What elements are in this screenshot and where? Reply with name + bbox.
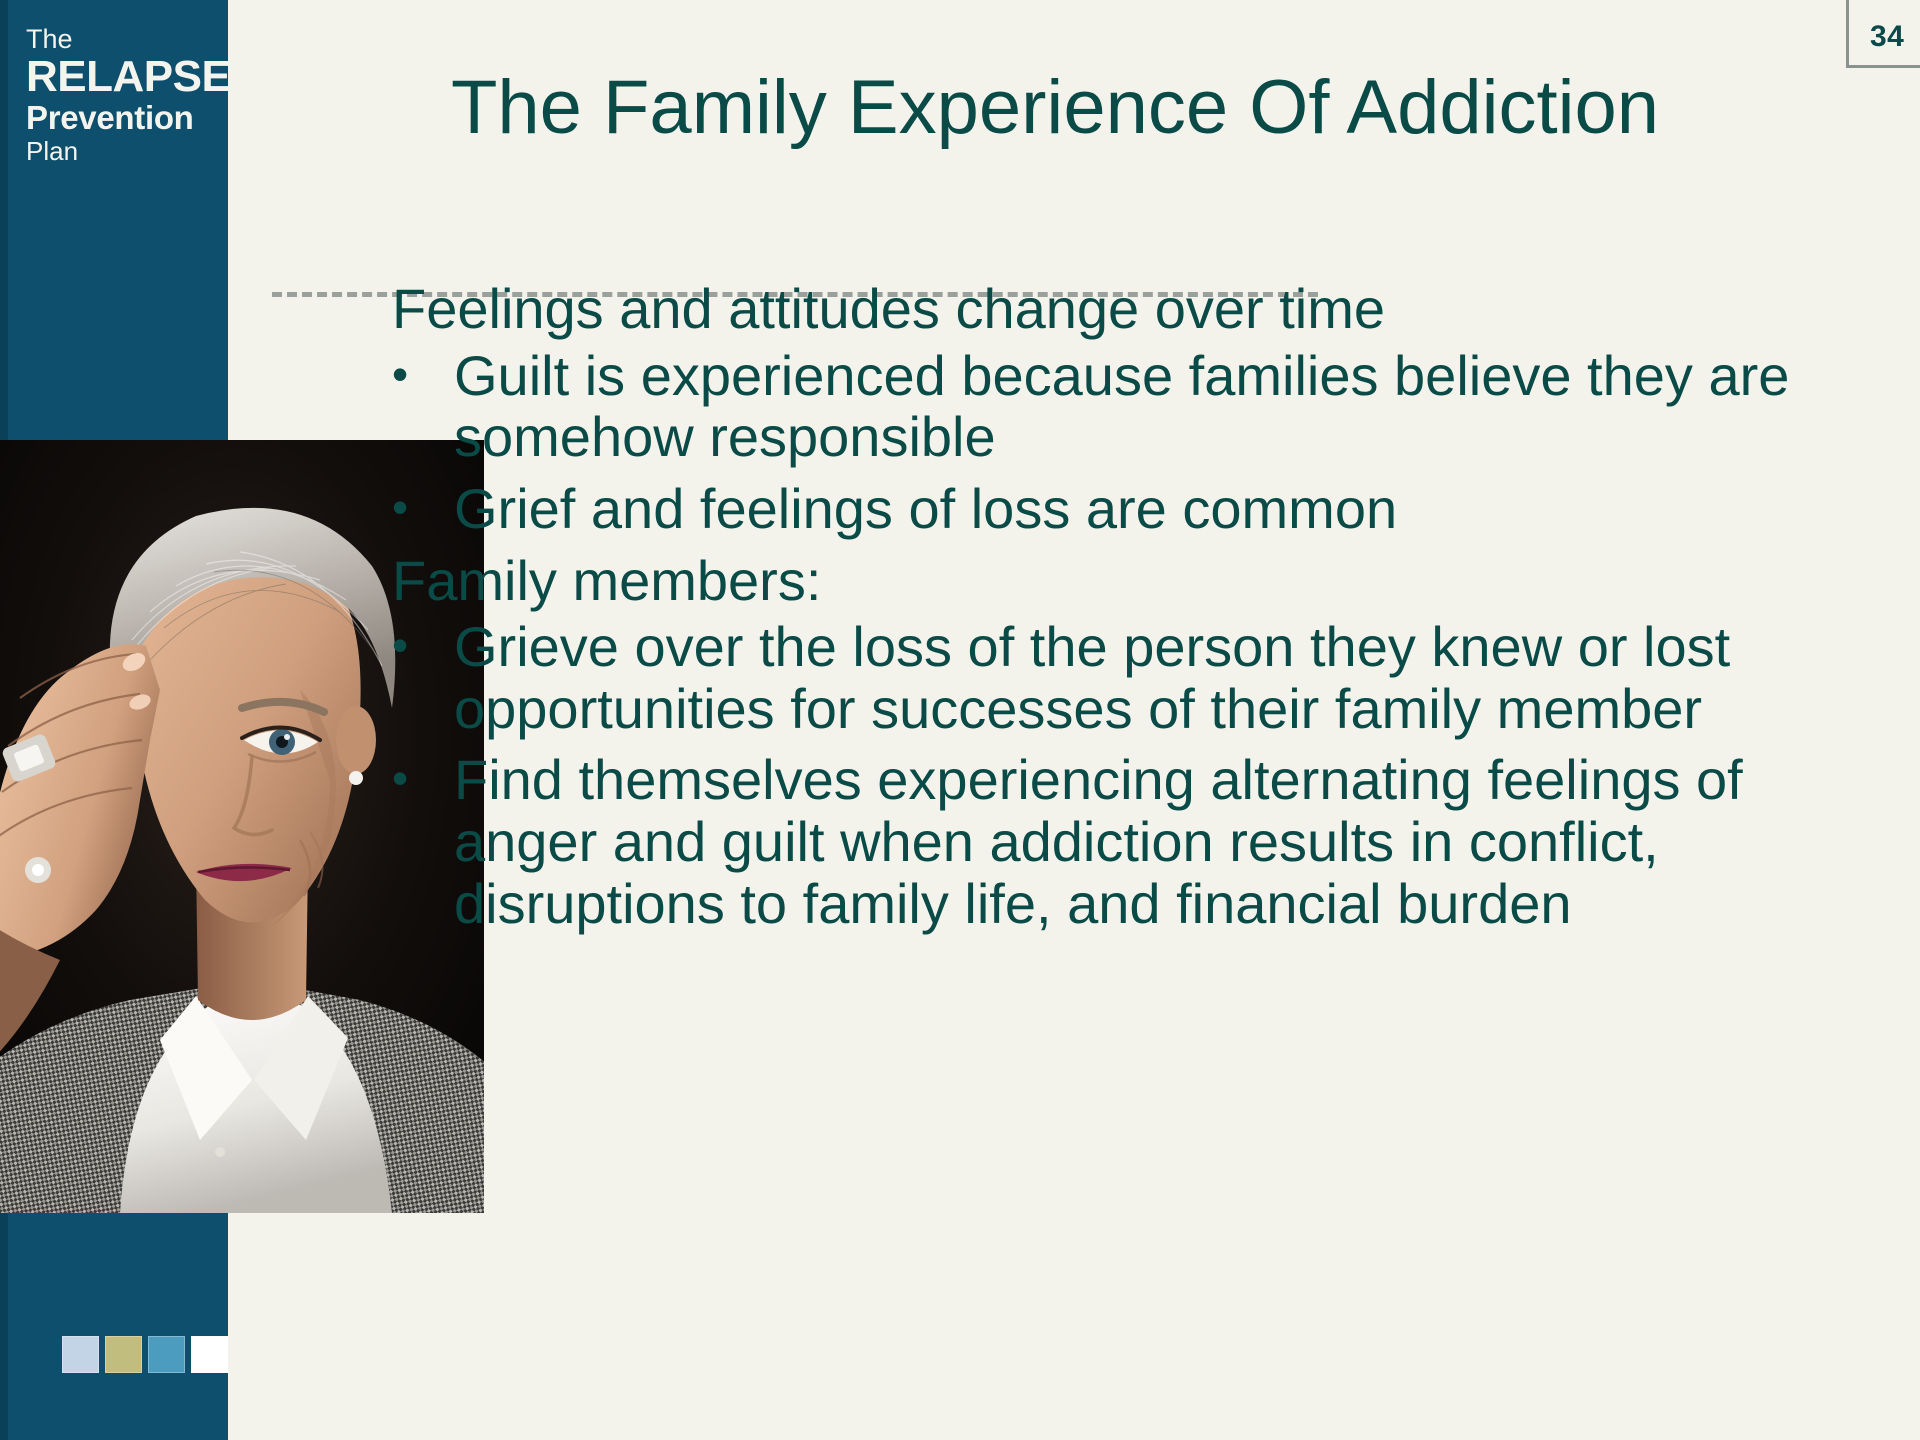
slide-body: Feelings and attitudes change over time … xyxy=(392,278,1872,944)
swatch-light-blue xyxy=(62,1336,99,1373)
bullet-dot-icon: • xyxy=(392,616,454,675)
bullet-item: • Grief and feelings of loss are common xyxy=(392,478,1872,540)
bullet-item: • Find themselves experiencing alternati… xyxy=(392,749,1872,934)
bullet-text: Grieve over the loss of the person they … xyxy=(454,616,1892,739)
section-heading: Family members: xyxy=(392,550,1872,613)
bullet-dot-icon: • xyxy=(392,345,454,404)
swatch-blue xyxy=(148,1336,185,1373)
bullet-item: • Guilt is experienced because families … xyxy=(392,345,1872,468)
footer-swatches xyxy=(62,1336,228,1373)
page-title: The Family Experience Of Addiction xyxy=(300,68,1810,149)
page-number: 34 xyxy=(1870,20,1904,54)
brand-logo: The RELAPSE Prevention Plan xyxy=(26,26,222,167)
logo-line-relapse: RELAPSE xyxy=(26,55,222,100)
swatch-khaki xyxy=(105,1336,142,1373)
bullet-dot-icon: • xyxy=(392,749,454,808)
logo-line-prevention: Prevention xyxy=(26,100,222,137)
slide-canvas: The RELAPSE Prevention Plan xyxy=(0,0,1920,1440)
logo-line-plan: Plan xyxy=(26,137,222,167)
bullet-text: Guilt is experienced because families be… xyxy=(454,345,1872,468)
bullet-text: Grief and feelings of loss are common xyxy=(454,478,1872,540)
bullet-dot-icon: • xyxy=(392,478,454,537)
lead-statement: Feelings and attitudes change over time xyxy=(392,278,1872,341)
logo-line-the: The xyxy=(26,26,222,53)
swatch-white xyxy=(191,1336,228,1373)
bullet-text: Find themselves experiencing alternating… xyxy=(454,749,1892,934)
bullet-item: • Grieve over the loss of the person the… xyxy=(392,616,1872,739)
